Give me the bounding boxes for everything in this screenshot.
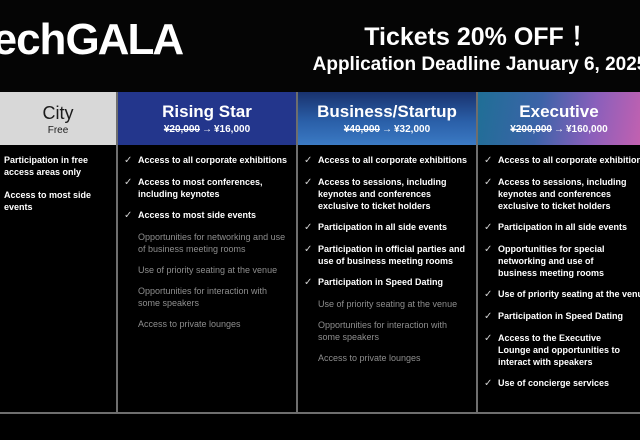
check-icon: ✓ — [484, 154, 496, 167]
price-arrow-icon: → — [552, 124, 566, 135]
logo-text-tech: Tech — [0, 15, 65, 64]
techgala-logo: TechGALA — [0, 18, 182, 62]
tier-header-city: City Free — [0, 92, 116, 145]
feature-item: Opportunities for networking and use of … — [124, 231, 290, 255]
feature-item: ✓ Access to the Executive Lounge and opp… — [484, 332, 634, 368]
tier-header-business-startup: Business/Startup ¥40,000→¥32,000 — [298, 92, 476, 145]
tier-price-business-startup: ¥40,000→¥32,000 — [344, 123, 430, 137]
feature-label: Use of priority seating at the venue — [138, 264, 277, 276]
tier-column-city: City Free Participation in free access a… — [0, 92, 116, 412]
promo-text-block: Tickets 20% OFF ！ Application Deadline J… — [300, 22, 640, 78]
check-icon: ✓ — [484, 288, 496, 301]
tier-title-executive: Executive — [519, 102, 598, 122]
feature-label: Access to private lounges — [318, 352, 421, 364]
feature-item: ✓ Access to sessions, including keynotes… — [304, 176, 470, 212]
check-icon: ✓ — [304, 276, 316, 289]
feature-item: ✓ Use of priority seating at the venue — [484, 288, 634, 301]
feature-item: ✓ Participation in Speed Dating — [484, 310, 634, 323]
feature-label: Use of concierge services — [498, 377, 609, 389]
feature-label: Participation in free access areas only — [4, 154, 114, 178]
feature-item: ✓ Opportunities for special networking a… — [484, 243, 634, 279]
feature-label: Access to private lounges — [138, 318, 241, 330]
tier-price-rising-star: ¥20,000→¥16,000 — [164, 123, 250, 137]
price-arrow-icon: → — [200, 124, 214, 135]
feature-label: Use of priority seating at the venue — [318, 298, 457, 310]
feature-item: ✓ Access to sessions, including keynotes… — [484, 176, 634, 212]
feature-label: Access to all corporate exhibitions — [318, 154, 467, 166]
feature-item: ✓ Access to most side events — [124, 209, 290, 222]
check-icon: ✓ — [484, 221, 496, 234]
price-discounted: ¥32,000 — [394, 124, 430, 135]
check-icon: ✓ — [124, 176, 136, 189]
feature-item: ✓ Access to all corporate exhibitions — [484, 154, 634, 167]
feature-item: Opportunities for interaction with some … — [304, 319, 470, 343]
check-icon: ✓ — [484, 176, 496, 189]
feature-label: Participation in Speed Dating — [318, 276, 443, 288]
feature-label: Access to all corporate exhibitions — [138, 154, 287, 166]
check-icon: ✓ — [304, 243, 316, 256]
check-icon: ✓ — [484, 243, 496, 256]
feature-label: Opportunities for interaction with some … — [318, 319, 470, 343]
tier-title-city: City — [43, 102, 74, 124]
feature-item: Opportunities for interaction with some … — [124, 285, 290, 309]
feature-label: Participation in Speed Dating — [498, 310, 623, 322]
tier-column-executive: Executive ¥200,000→¥160,000 ✓ Access to … — [476, 92, 640, 412]
feature-label: Participation in all side events — [498, 221, 627, 233]
price-original: ¥200,000 — [510, 124, 552, 135]
tier-features-rising-star: ✓ Access to all corporate exhibitions ✓ … — [118, 145, 296, 412]
check-icon: ✓ — [304, 176, 316, 189]
feature-label: Use of priority seating at the venue — [498, 288, 640, 300]
tier-features-executive: ✓ Access to all corporate exhibitions ✓ … — [478, 145, 640, 412]
feature-item: ✓ Access to all corporate exhibitions — [124, 154, 290, 167]
feature-item: ✓ Participation in official parties and … — [304, 243, 470, 267]
feature-label: Access to all corporate exhibitions — [498, 154, 640, 166]
feature-label: Participation in official parties and us… — [318, 243, 470, 267]
feature-item: ✓ Participation in all side events — [484, 221, 634, 234]
tier-features-city: Participation in free access areas only … — [0, 145, 116, 412]
price-discounted: ¥16,000 — [214, 124, 250, 135]
feature-item: ✓ Access to most conferences, including … — [124, 176, 290, 200]
price-discounted: ¥160,000 — [566, 124, 608, 135]
feature-item: Access to private lounges — [124, 318, 290, 330]
tier-title-business-startup: Business/Startup — [317, 102, 457, 122]
feature-label: Access to most side events — [138, 209, 256, 221]
promo-deadline: Application Deadline January 6, 2025 — [300, 52, 640, 78]
tier-column-business-startup: Business/Startup ¥40,000→¥32,000 ✓ Acces… — [296, 92, 476, 412]
tier-features-business-startup: ✓ Access to all corporate exhibitions ✓ … — [298, 145, 476, 412]
promo-headline: Tickets 20% OFF ！ — [300, 22, 640, 52]
price-arrow-icon: → — [380, 124, 394, 135]
feature-label: Access to the Executive Lounge and oppor… — [498, 332, 634, 368]
check-icon: ✓ — [124, 209, 136, 222]
ticket-tier-table: City Free Participation in free access a… — [0, 92, 640, 414]
feature-item: ✓ Use of concierge services — [484, 377, 634, 390]
check-icon: ✓ — [304, 154, 316, 167]
promo-banner: TechGALA Tickets 20% OFF ！ Application D… — [0, 0, 640, 92]
feature-item: Participation in free access areas only — [4, 154, 114, 178]
feature-label: Opportunities for special networking and… — [498, 243, 634, 279]
check-icon: ✓ — [124, 154, 136, 167]
feature-item: ✓ Participation in all side events — [304, 221, 470, 234]
tier-price-executive: ¥200,000→¥160,000 — [510, 123, 607, 137]
tier-header-executive: Executive ¥200,000→¥160,000 — [478, 92, 640, 145]
logo-text-gala: GALA — [65, 15, 182, 64]
tier-price-city: Free — [48, 124, 69, 138]
feature-label: Access to sessions, including keynotes a… — [318, 176, 470, 212]
check-icon: ✓ — [304, 221, 316, 234]
feature-label: Access to most side events — [4, 189, 114, 213]
feature-item: Use of priority seating at the venue — [124, 264, 290, 276]
check-icon: ✓ — [484, 332, 496, 345]
tier-header-rising-star: Rising Star ¥20,000→¥16,000 — [118, 92, 296, 145]
check-icon: ✓ — [484, 310, 496, 323]
price-original: ¥40,000 — [344, 124, 380, 135]
feature-label: Access to most conferences, including ke… — [138, 176, 290, 200]
check-icon: ✓ — [484, 377, 496, 390]
feature-label: Opportunities for networking and use of … — [138, 231, 290, 255]
feature-item: Access to private lounges — [304, 352, 470, 364]
feature-item: ✓ Access to all corporate exhibitions — [304, 154, 470, 167]
feature-item: Access to most side events — [4, 189, 114, 213]
feature-label: Access to sessions, including keynotes a… — [498, 176, 634, 212]
price-original: ¥20,000 — [164, 124, 200, 135]
tier-column-rising-star: Rising Star ¥20,000→¥16,000 ✓ Access to … — [116, 92, 296, 412]
feature-item: ✓ Participation in Speed Dating — [304, 276, 470, 289]
feature-item: Use of priority seating at the venue — [304, 298, 470, 310]
tier-title-rising-star: Rising Star — [162, 102, 252, 122]
feature-label: Participation in all side events — [318, 221, 447, 233]
feature-label: Opportunities for interaction with some … — [138, 285, 290, 309]
